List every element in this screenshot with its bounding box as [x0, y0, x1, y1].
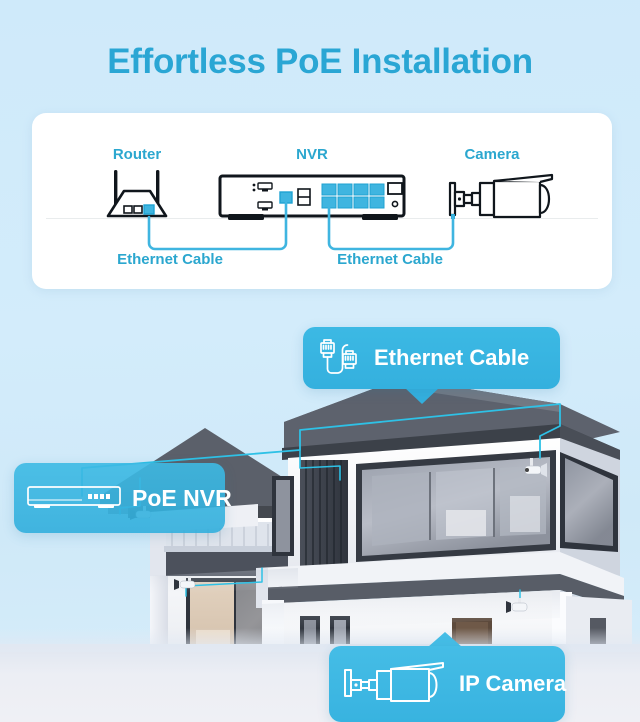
page-title: Effortless PoE Installation	[0, 42, 640, 82]
callout-label-ip-camera: IP Camera	[459, 671, 566, 697]
nvr-recorder-icon	[26, 481, 122, 515]
bullet-camera-icon	[339, 658, 451, 710]
callout-ip-camera[interactable]: IP Camera	[329, 646, 565, 722]
nvr-recorder-icon	[220, 176, 404, 220]
ethernet-callout-pointer	[404, 387, 440, 404]
callout-label-ethernet-cable: Ethernet Cable	[374, 345, 529, 371]
callout-label-poe-nvr: PoE NVR	[132, 485, 232, 512]
promo-graphic: Effortless PoE Installation Router NVR C…	[0, 0, 640, 722]
wifi-router-icon	[90, 170, 182, 219]
ethernet-cable-icon	[317, 336, 361, 380]
callout-ethernet-cable[interactable]: Ethernet Cable	[303, 327, 560, 389]
ip-camera-callout-pointer	[428, 632, 462, 647]
bullet-camera-icon	[450, 175, 552, 217]
router-poe-port	[144, 205, 154, 214]
poe-topology-card: Router NVR Camera Ethernet Cable Etherne…	[32, 113, 612, 289]
nvr-uplink-port	[280, 192, 292, 203]
topology-diagram	[32, 113, 612, 289]
callout-poe-nvr[interactable]: PoE NVR	[14, 463, 225, 533]
